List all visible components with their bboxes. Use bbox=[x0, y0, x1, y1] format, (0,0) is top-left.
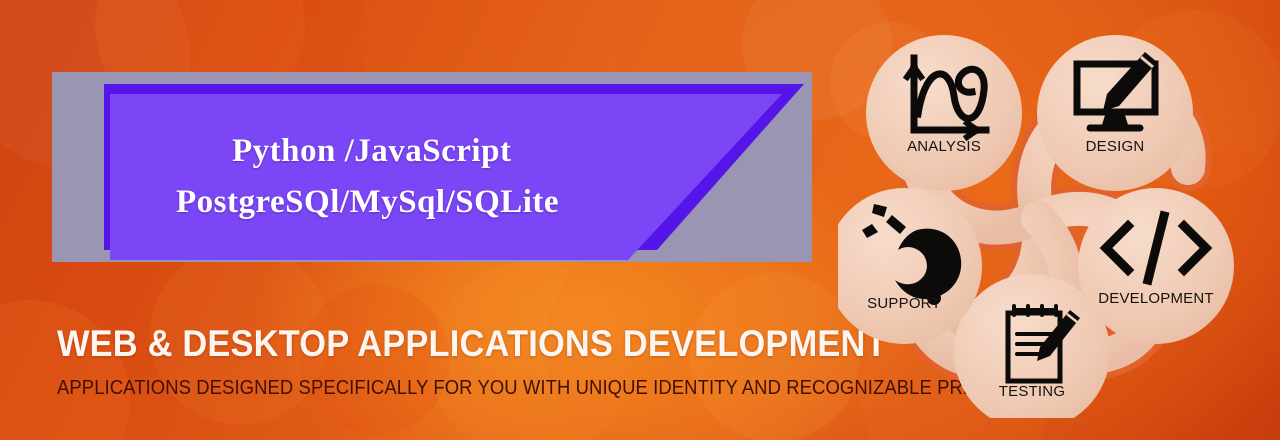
node-label-development: DEVELOPMENT bbox=[1098, 290, 1214, 307]
tech-stack-text-group: Python /JavaScript PostgreSQl/MySql/SQLi… bbox=[110, 94, 810, 260]
node-label-testing: TESTING bbox=[999, 383, 1065, 400]
process-pinwheel-infographic: ANALYSIS DESIGN bbox=[838, 18, 1238, 418]
promo-banner: Python /JavaScript PostgreSQl/MySql/SQLi… bbox=[0, 0, 1280, 440]
node-analysis[interactable]: ANALYSIS bbox=[866, 35, 1022, 191]
tech-stack-panel: Python /JavaScript PostgreSQl/MySql/SQLi… bbox=[52, 72, 812, 262]
node-label-support: SUPPORT bbox=[867, 295, 941, 312]
tech-stack-line-languages: Python /JavaScript bbox=[110, 134, 810, 169]
node-circle-analysis bbox=[866, 35, 1022, 191]
node-label-design: DESIGN bbox=[1086, 138, 1145, 155]
node-label-analysis: ANALYSIS bbox=[907, 138, 981, 155]
tech-stack-line-databases: PostgreSQl/MySql/SQLite bbox=[110, 185, 810, 220]
page-subtitle: APPLICATIONS DESIGNED SPECIFICALLY FOR Y… bbox=[57, 376, 867, 400]
headline-block: WEB & DESKTOP APPLICATIONS DEVELOPMENT A… bbox=[57, 325, 957, 400]
node-design[interactable]: DESIGN bbox=[1037, 35, 1193, 191]
page-title: WEB & DESKTOP APPLICATIONS DEVELOPMENT bbox=[57, 325, 894, 364]
